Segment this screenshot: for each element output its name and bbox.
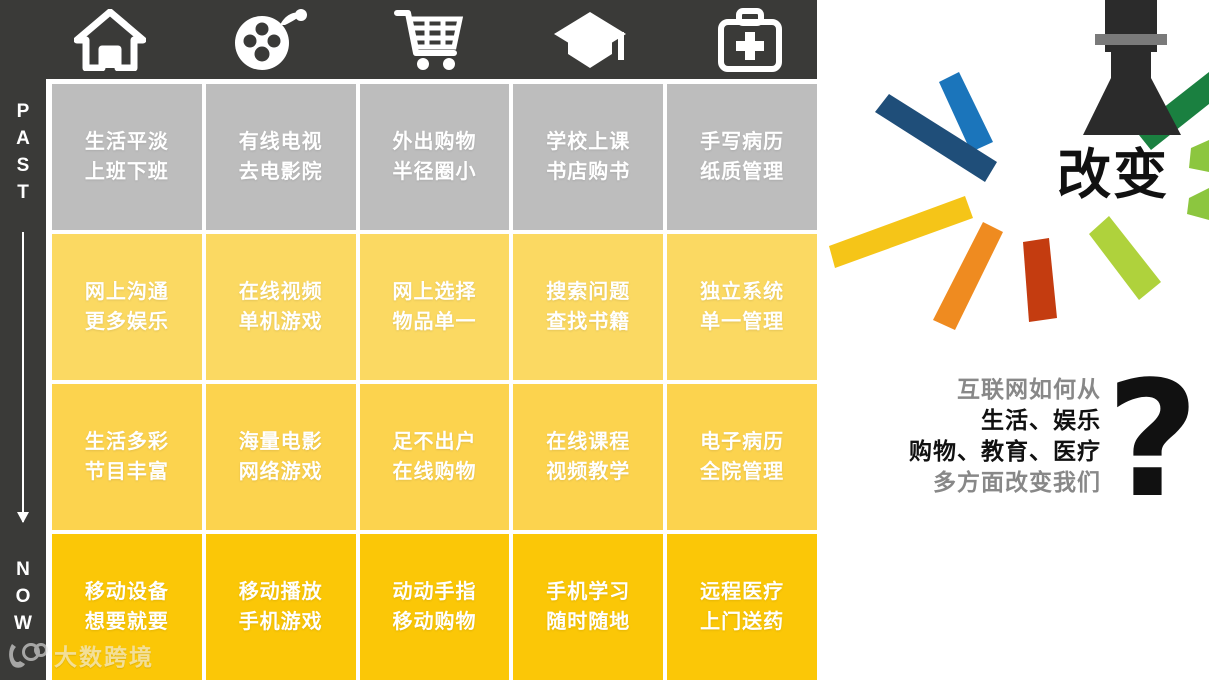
grid-cell: 学校上课书店购书 <box>513 84 663 230</box>
grid-cell: 外出购物半径圈小 <box>360 84 510 230</box>
question-mark-icon: ? <box>1106 360 1199 520</box>
now-label: N O W <box>0 556 46 637</box>
graduation-cap-icon <box>514 0 666 79</box>
category-icon-header <box>0 0 817 79</box>
cell-line-1: 在线视频 <box>239 277 323 307</box>
grid-cell: 手写病历纸质管理 <box>667 84 817 230</box>
grid-cell: 搜索问题查找书籍 <box>513 234 663 380</box>
timeline-arrow-icon <box>22 232 24 522</box>
question-line-4: 多方面改变我们 <box>909 467 1101 498</box>
grid-cell: 远程医疗上门送药 <box>667 534 817 680</box>
question-line-3: 购物、教育、医疗 <box>909 436 1101 467</box>
question-lines: 互联网如何从 生活、娱乐 购物、教育、医疗 多方面改变我们 <box>909 374 1101 498</box>
now-letter: O <box>0 583 46 610</box>
dashukuajing-logo-icon <box>6 640 48 670</box>
cell-line-2: 查找书籍 <box>546 307 630 337</box>
cell-line-1: 学校上课 <box>546 127 630 157</box>
cell-line-2: 单一管理 <box>700 307 784 337</box>
medical-kit-icon <box>674 0 826 79</box>
grid-cell: 在线课程视频教学 <box>513 384 663 530</box>
past-letter: T <box>0 179 46 206</box>
cell-line-2: 随时随地 <box>546 607 630 637</box>
grid-cell: 动动手指移动购物 <box>360 534 510 680</box>
cell-line-1: 远程医疗 <box>700 577 784 607</box>
cell-line-2: 想要就要 <box>85 607 169 637</box>
now-letter: N <box>0 556 46 583</box>
cell-line-1: 动动手指 <box>392 577 476 607</box>
past-letter: P <box>0 98 46 125</box>
grid-cell: 网上选择物品单一 <box>360 234 510 380</box>
watermark: 大数跨境 <box>6 638 154 672</box>
cell-line-2: 视频教学 <box>546 457 630 487</box>
grid-cell: 电子病历全院管理 <box>667 384 817 530</box>
cell-line-2: 上班下班 <box>85 157 169 187</box>
cell-line-1: 在线课程 <box>546 427 630 457</box>
cell-line-1: 搜索问题 <box>546 277 630 307</box>
cell-line-2: 节目丰富 <box>85 457 169 487</box>
cell-line-2: 去电影院 <box>239 157 323 187</box>
grid-cell: 生活平淡上班下班 <box>52 84 202 230</box>
cell-line-1: 电子病历 <box>700 427 784 457</box>
grid-cell: 足不出户在线购物 <box>360 384 510 530</box>
cell-line-1: 移动播放 <box>239 577 323 607</box>
cell-line-1: 海量电影 <box>239 427 323 457</box>
question-line-1: 互联网如何从 <box>909 374 1101 405</box>
cell-line-2: 书店购书 <box>546 157 630 187</box>
cell-line-2: 单机游戏 <box>239 307 323 337</box>
cell-line-2: 手机游戏 <box>239 607 323 637</box>
evolution-grid: 生活平淡上班下班有线电视去电影院外出购物半径圈小学校上课书店购书手写病历纸质管理… <box>52 84 817 680</box>
cell-line-2: 纸质管理 <box>700 157 784 187</box>
grid-cell: 移动播放手机游戏 <box>206 534 356 680</box>
cell-line-1: 手写病历 <box>700 127 784 157</box>
grid-cell: 独立系统单一管理 <box>667 234 817 380</box>
cell-line-2: 半径圈小 <box>392 157 476 187</box>
cell-line-1: 网上选择 <box>392 277 476 307</box>
cell-line-2: 更多娱乐 <box>85 307 169 337</box>
cell-line-2: 物品单一 <box>392 307 476 337</box>
cell-line-1: 足不出户 <box>392 427 476 457</box>
cell-line-1: 移动设备 <box>85 577 169 607</box>
cell-line-1: 独立系统 <box>700 277 784 307</box>
grid-cell: 有线电视去电影院 <box>206 84 356 230</box>
past-label: P A S T <box>0 98 46 206</box>
home-icon <box>34 0 186 79</box>
watermark-text: 大数跨境 <box>54 638 154 672</box>
past-letter: A <box>0 125 46 152</box>
change-headline: 改变 <box>1057 145 1169 205</box>
grid-cell: 手机学习随时随地 <box>513 534 663 680</box>
cell-line-2: 网络游戏 <box>239 457 323 487</box>
cell-line-1: 手机学习 <box>546 577 630 607</box>
cell-line-2: 全院管理 <box>700 457 784 487</box>
shopping-cart-icon <box>354 0 506 79</box>
cell-line-2: 移动购物 <box>392 607 476 637</box>
megaphone-band <box>1095 34 1167 45</box>
cell-line-1: 外出购物 <box>392 127 476 157</box>
film-reel-icon <box>194 0 346 79</box>
illustration-panel: 改变 互联网如何从 生活、娱乐 购物、教育、医疗 多方面改变我们 ? <box>817 0 1209 680</box>
past-letter: S <box>0 152 46 179</box>
cell-line-1: 生活多彩 <box>85 427 169 457</box>
cell-line-1: 网上沟通 <box>85 277 169 307</box>
grid-cell: 生活多彩节目丰富 <box>52 384 202 530</box>
grid-cell: 在线视频单机游戏 <box>206 234 356 380</box>
timeline-rail: P A S T N O W <box>0 0 46 680</box>
cell-line-2: 上门送药 <box>700 607 784 637</box>
infographic-canvas: P A S T N O W 生活平淡上班下班有线电视去电影院外出购物半径圈小学校… <box>0 0 1209 680</box>
question-block: 互联网如何从 生活、娱乐 购物、教育、医疗 多方面改变我们 ? <box>817 368 1209 538</box>
question-line-2: 生活、娱乐 <box>909 405 1101 436</box>
cell-line-2: 在线购物 <box>392 457 476 487</box>
cell-line-1: 有线电视 <box>239 127 323 157</box>
grid-cell: 海量电影网络游戏 <box>206 384 356 530</box>
now-letter: W <box>0 610 46 637</box>
cell-line-1: 生活平淡 <box>85 127 169 157</box>
grid-cell: 网上沟通更多娱乐 <box>52 234 202 380</box>
